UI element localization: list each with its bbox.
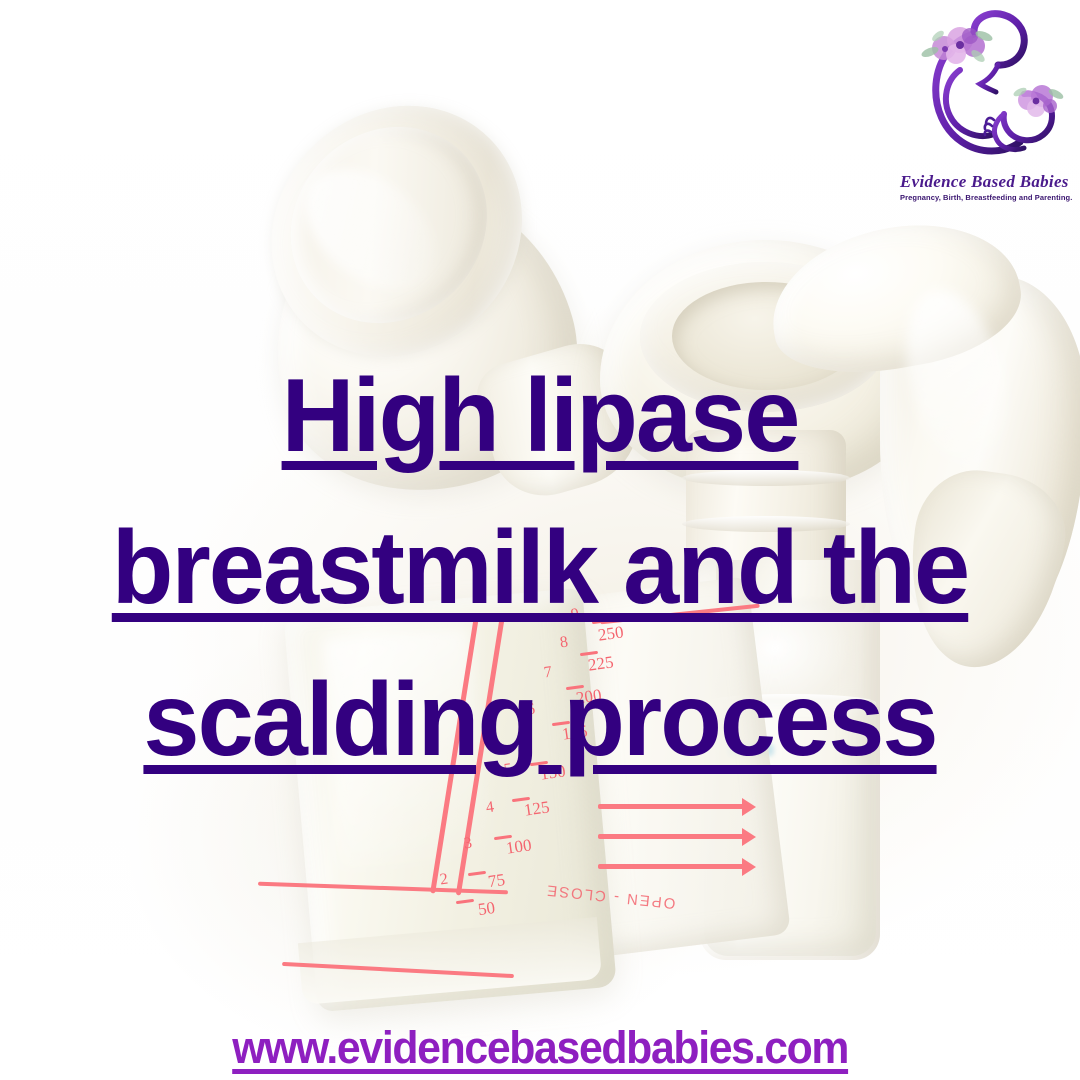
zip-arrow-head (742, 858, 756, 876)
page-title: High lipase breastmilk and the scalding … (0, 340, 1080, 796)
footer: www.evidencebasedbabies.com (0, 1022, 1080, 1074)
scale-label-ml: 50 (477, 899, 496, 918)
zip-arrow-head (742, 798, 756, 816)
logo-tagline: Pregnancy, Birth, Breastfeeding and Pare… (900, 193, 1068, 202)
poster-canvas: 9 8 7 6 5 4 3 2 250 225 200 175 150 125 … (0, 0, 1080, 1080)
scale-label-ml: 75 (487, 871, 506, 890)
zip-arrow (598, 834, 746, 839)
headline-line-1: High lipase (16, 340, 1064, 492)
scale-label-ml: 125 (523, 798, 551, 818)
scale-label-ml: 100 (505, 836, 533, 856)
mother-and-baby-icon (900, 8, 1068, 176)
zip-arrow (598, 804, 746, 809)
zip-arrow-head (742, 828, 756, 846)
headline-line-2: breastmilk and the (16, 492, 1064, 644)
brand-logo[interactable]: Evidence Based Babies Pregnancy, Birth, … (900, 8, 1068, 223)
headline-line-3: scalding process (16, 644, 1064, 796)
website-url-link[interactable]: www.evidencebasedbabies.com (232, 1022, 848, 1074)
zip-arrow (598, 864, 746, 869)
